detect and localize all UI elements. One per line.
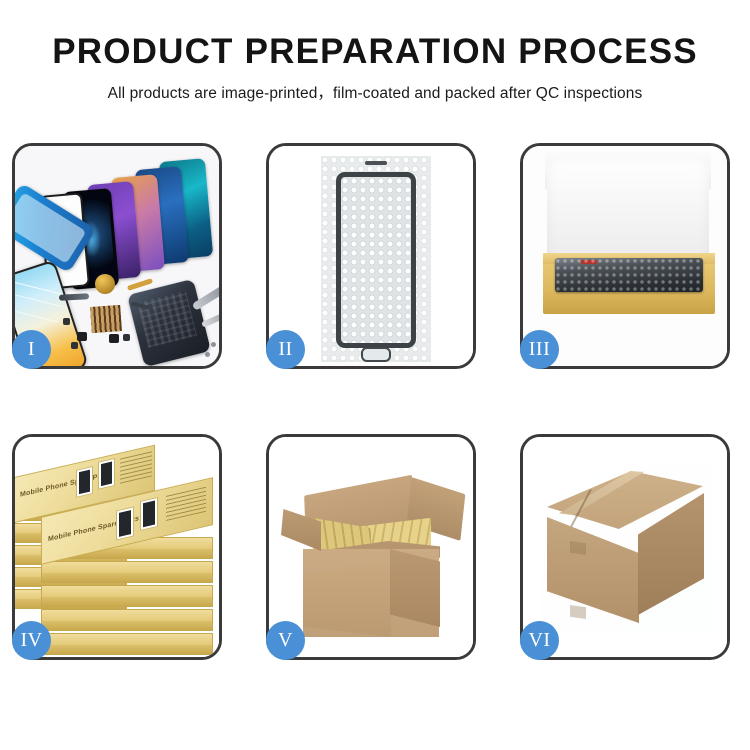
chip-grid-part — [90, 305, 122, 333]
ic-chip-part — [77, 332, 87, 341]
page-subtitle: All products are image-printed，film-coat… — [0, 81, 750, 103]
small-component-part — [71, 342, 78, 349]
step-badge-5: V — [266, 621, 305, 660]
lid-thumbnail — [76, 466, 93, 498]
earpiece-slot — [365, 161, 387, 165]
stacked-box — [41, 633, 213, 655]
lid-thumbnail — [140, 497, 158, 531]
step-badge-4: IV — [12, 621, 51, 660]
carton-handle-tab — [570, 605, 586, 619]
red-label-mark — [581, 260, 597, 264]
speaker-part-icon — [95, 274, 115, 294]
process-step-4: Mobile Phone Spare Parts Mobile Phone Sp… — [12, 434, 222, 660]
process-step-1: I — [12, 143, 222, 369]
kraft-box-tray — [543, 262, 715, 314]
screw-part — [205, 352, 210, 357]
small-component-part — [123, 334, 130, 341]
page-header: PRODUCT PREPARATION PROCESS All products… — [0, 0, 750, 103]
screw-part — [211, 342, 216, 347]
step-badge-1: I — [12, 330, 51, 369]
carton-right-face — [390, 549, 440, 627]
step-6-image — [523, 437, 727, 657]
box-stack: Mobile Phone Spare Parts Mobile Phone Sp… — [15, 437, 219, 657]
step-badge-3: III — [520, 330, 559, 369]
wrapped-phone-screen — [336, 172, 416, 348]
lid-thumbnail — [98, 458, 115, 490]
step-badge-2: II — [266, 330, 305, 369]
step-5-image — [269, 437, 473, 657]
process-step-6: VI — [520, 434, 730, 660]
stacked-box — [41, 609, 213, 631]
lid-spec-lines — [166, 486, 206, 521]
ic-chip-part — [109, 334, 119, 343]
bubble-wrap-sheet — [321, 156, 431, 362]
carton-front-face — [303, 563, 391, 637]
step-badge-6: VI — [520, 621, 559, 660]
lid-thumbnail — [116, 506, 134, 540]
stacked-box — [41, 561, 213, 583]
lid-spec-lines — [120, 450, 152, 483]
process-step-3: III — [520, 143, 730, 369]
carton-handle-tab — [570, 541, 586, 555]
page-title: PRODUCT PREPARATION PROCESS — [0, 34, 750, 71]
process-step-grid: I II III — [12, 143, 738, 660]
step-2-image — [269, 146, 473, 366]
step-1-image — [15, 146, 219, 366]
stacked-box — [41, 585, 213, 607]
wrapped-screen-in-box — [555, 258, 703, 292]
home-button-slot — [361, 347, 391, 362]
process-step-2: II — [266, 143, 476, 369]
process-step-5: V — [266, 434, 476, 660]
step-3-image — [523, 146, 727, 366]
step-4-image: Mobile Phone Spare Parts Mobile Phone Sp… — [15, 437, 219, 657]
small-component-part — [63, 318, 70, 325]
